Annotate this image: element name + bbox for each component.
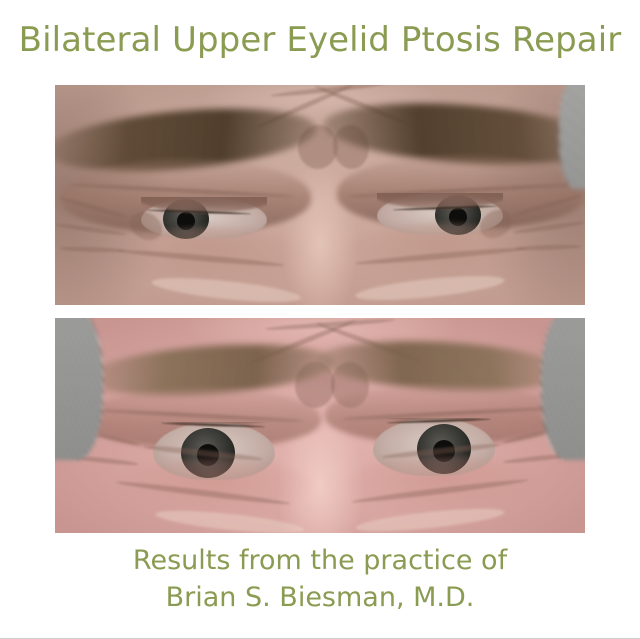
caption-line-1: Results from the practice of	[0, 542, 640, 579]
caption-block: Results from the practice of Brian S. Bi…	[0, 542, 640, 616]
before-photo	[55, 85, 585, 305]
caption-line-2: Brian S. Biesman, M.D.	[0, 579, 640, 616]
under-eye-area-right	[343, 456, 539, 514]
hair-left-temple	[55, 318, 103, 460]
hair-right-temple	[559, 85, 585, 189]
page-container: Bilateral Upper Eyelid Ptosis Repair	[0, 0, 640, 639]
after-photo	[55, 318, 585, 533]
hair-right-temple	[541, 318, 585, 460]
page-title: Bilateral Upper Eyelid Ptosis Repair	[0, 18, 640, 62]
